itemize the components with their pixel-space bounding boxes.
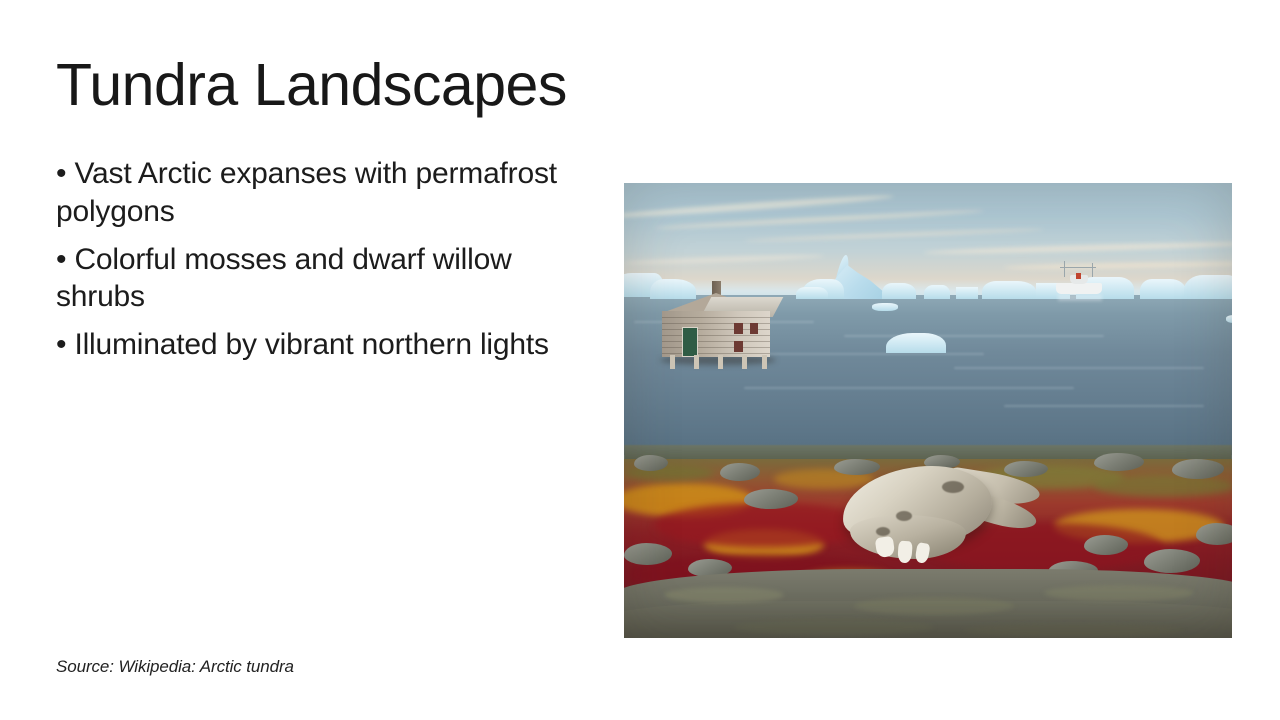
lichen-patch <box>964 623 1184 637</box>
iceberg <box>886 333 946 353</box>
cabin-window <box>750 323 758 334</box>
list-item-text: Colorful mosses and dwarf willow shrubs <box>56 243 512 314</box>
cabin-stilt <box>670 355 675 369</box>
moss-patch-olive <box>1094 475 1232 497</box>
cloud-streak <box>924 240 1232 255</box>
cloud-streak <box>744 227 1044 243</box>
boulder <box>1196 523 1232 545</box>
bullet-marker-icon: • <box>56 243 66 276</box>
lichen-patch <box>734 619 934 635</box>
list-item: • Vast Arctic expanses with permafrost p… <box>56 155 576 231</box>
skull-tooth <box>914 542 930 564</box>
iceberg <box>956 287 978 299</box>
bullet-marker-icon: • <box>56 157 66 190</box>
page-title: Tundra Landscapes <box>56 55 567 117</box>
tundra-photo <box>624 183 1232 638</box>
presentation-slide: Tundra Landscapes • Vast Arctic expanses… <box>0 0 1280 720</box>
list-item-text: Vast Arctic expanses with permafrost pol… <box>56 157 557 228</box>
ship-funnel <box>1076 273 1081 279</box>
cloud-streak <box>624 254 824 266</box>
cabin-stilt <box>762 355 767 369</box>
iceberg <box>882 283 916 299</box>
cabin-window <box>734 341 743 352</box>
iceberg <box>872 303 898 311</box>
cabin-stilt <box>694 355 699 369</box>
fishing-boat <box>1056 283 1102 294</box>
bullet-marker-icon: • <box>56 328 66 361</box>
cabin-door <box>682 327 698 357</box>
list-item: • Colorful mosses and dwarf willow shrub… <box>56 241 576 317</box>
cabin-window <box>734 323 743 334</box>
animal-skull <box>824 451 1064 576</box>
wooden-cabin <box>654 287 794 371</box>
list-item: • Illuminated by vibrant northern lights <box>56 326 576 364</box>
iceberg <box>1140 279 1186 299</box>
list-item-text: Illuminated by vibrant northern lights <box>74 328 548 361</box>
lichen-patch <box>664 587 784 603</box>
iceberg <box>1226 315 1232 323</box>
ship-mast <box>1092 263 1093 277</box>
iceberg <box>796 287 828 299</box>
skull-cavity <box>876 527 890 536</box>
iceberg <box>924 285 950 299</box>
lichen-patch <box>1044 585 1194 601</box>
lichen-patch <box>854 597 1014 615</box>
skull-eye-socket <box>942 481 964 493</box>
ship-rigging <box>1060 267 1096 268</box>
iceberg <box>1184 275 1232 299</box>
cabin-stilt <box>718 355 723 369</box>
ship-mast <box>1064 261 1065 277</box>
ship-reflection <box>1058 294 1102 301</box>
source-caption: Source: Wikipedia: Arctic tundra <box>56 657 294 677</box>
cabin-stilt <box>742 355 747 369</box>
bullet-list: • Vast Arctic expanses with permafrost p… <box>56 155 576 374</box>
skull-tooth <box>897 541 913 564</box>
iceberg <box>982 281 1036 299</box>
cloud-streak <box>1004 261 1232 270</box>
skull-cavity <box>896 511 912 521</box>
